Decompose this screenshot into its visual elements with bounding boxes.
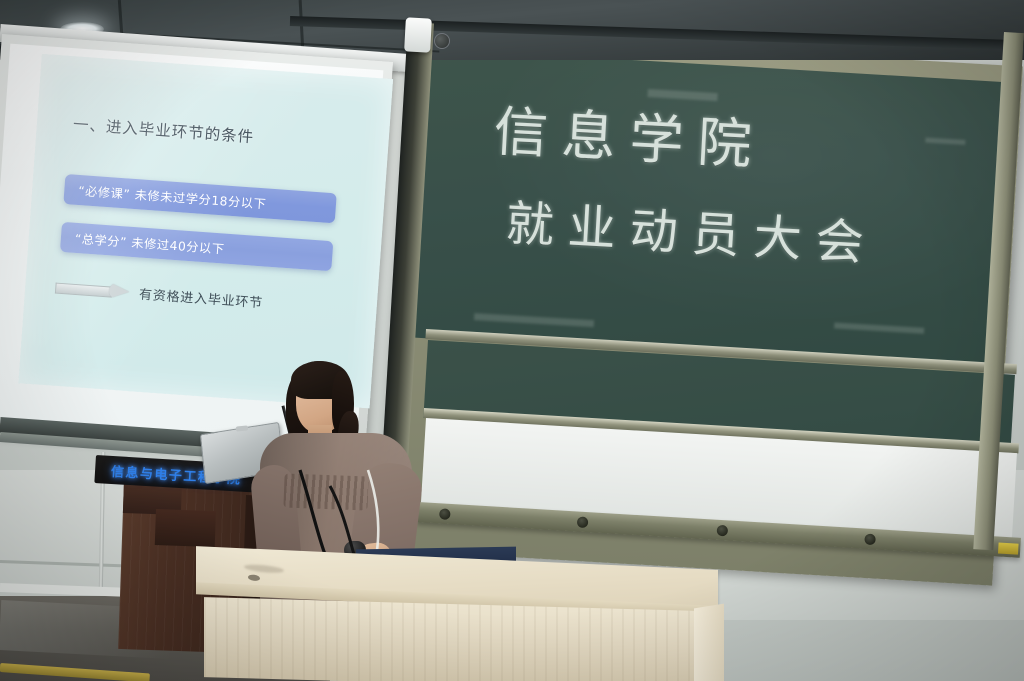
screen-roller-pulley-icon	[434, 33, 450, 49]
front-table	[196, 558, 726, 681]
presenter-sweatshirt-print	[283, 474, 368, 511]
slide-title: 一、进入毕业环节的条件	[72, 112, 255, 147]
table-scuff-mark	[244, 563, 284, 574]
slide-bullet-box-2: “总学分” 未修过40分以下	[60, 222, 333, 271]
podium-step-lower	[155, 509, 216, 547]
table-grommet-hole	[248, 574, 260, 581]
screen-roller-end-cap	[404, 17, 432, 52]
blackboard: 信息学院 就业动员大会	[408, 2, 1024, 562]
chalk-tray-yellow-cap	[998, 543, 1019, 555]
table-wood-grain	[204, 597, 696, 681]
right-arrow-icon	[55, 281, 132, 299]
table-side-panel	[694, 604, 724, 681]
lecture-hall-scene: 信息学院 就业动员大会 一、进入毕业环节的条件 “必修课” 未	[0, 0, 1024, 681]
slide-bullet-box-1: “必修课” 未修未过学分18分以下	[63, 174, 336, 223]
slide-conclusion-row: 有资格进入毕业环节	[55, 278, 264, 312]
slide-conclusion-label: 有资格进入毕业环节	[138, 284, 263, 312]
blackboard-text-line-1: 信息学院	[492, 87, 768, 180]
